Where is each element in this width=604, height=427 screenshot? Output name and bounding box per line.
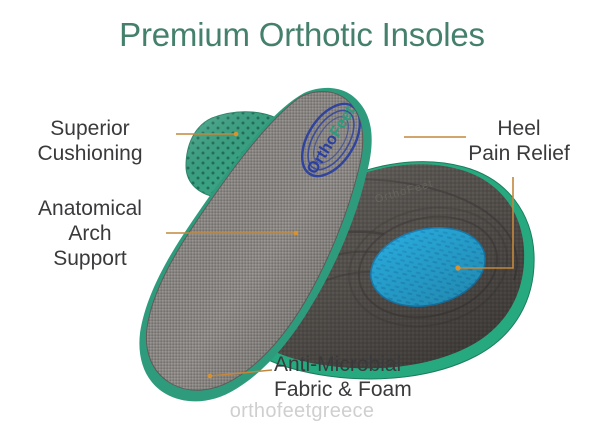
watermark: orthofeetgreece — [0, 400, 604, 423]
callout-label-superior-cushioning: Superior Cushioning — [8, 116, 172, 166]
page-title: Premium Orthotic Insoles — [0, 16, 604, 54]
callout-label-heel-pain-relief: Heel Pain Relief — [440, 116, 598, 166]
callout-label-anti-microbial-fabric-foam: Anti-Microbial Fabric & Foam — [274, 352, 494, 402]
insole-infographic: OrthoFeet OrthoFeet — [0, 0, 604, 427]
callout-label-anatomical-arch-support: Anatomical Arch Support — [8, 196, 172, 271]
